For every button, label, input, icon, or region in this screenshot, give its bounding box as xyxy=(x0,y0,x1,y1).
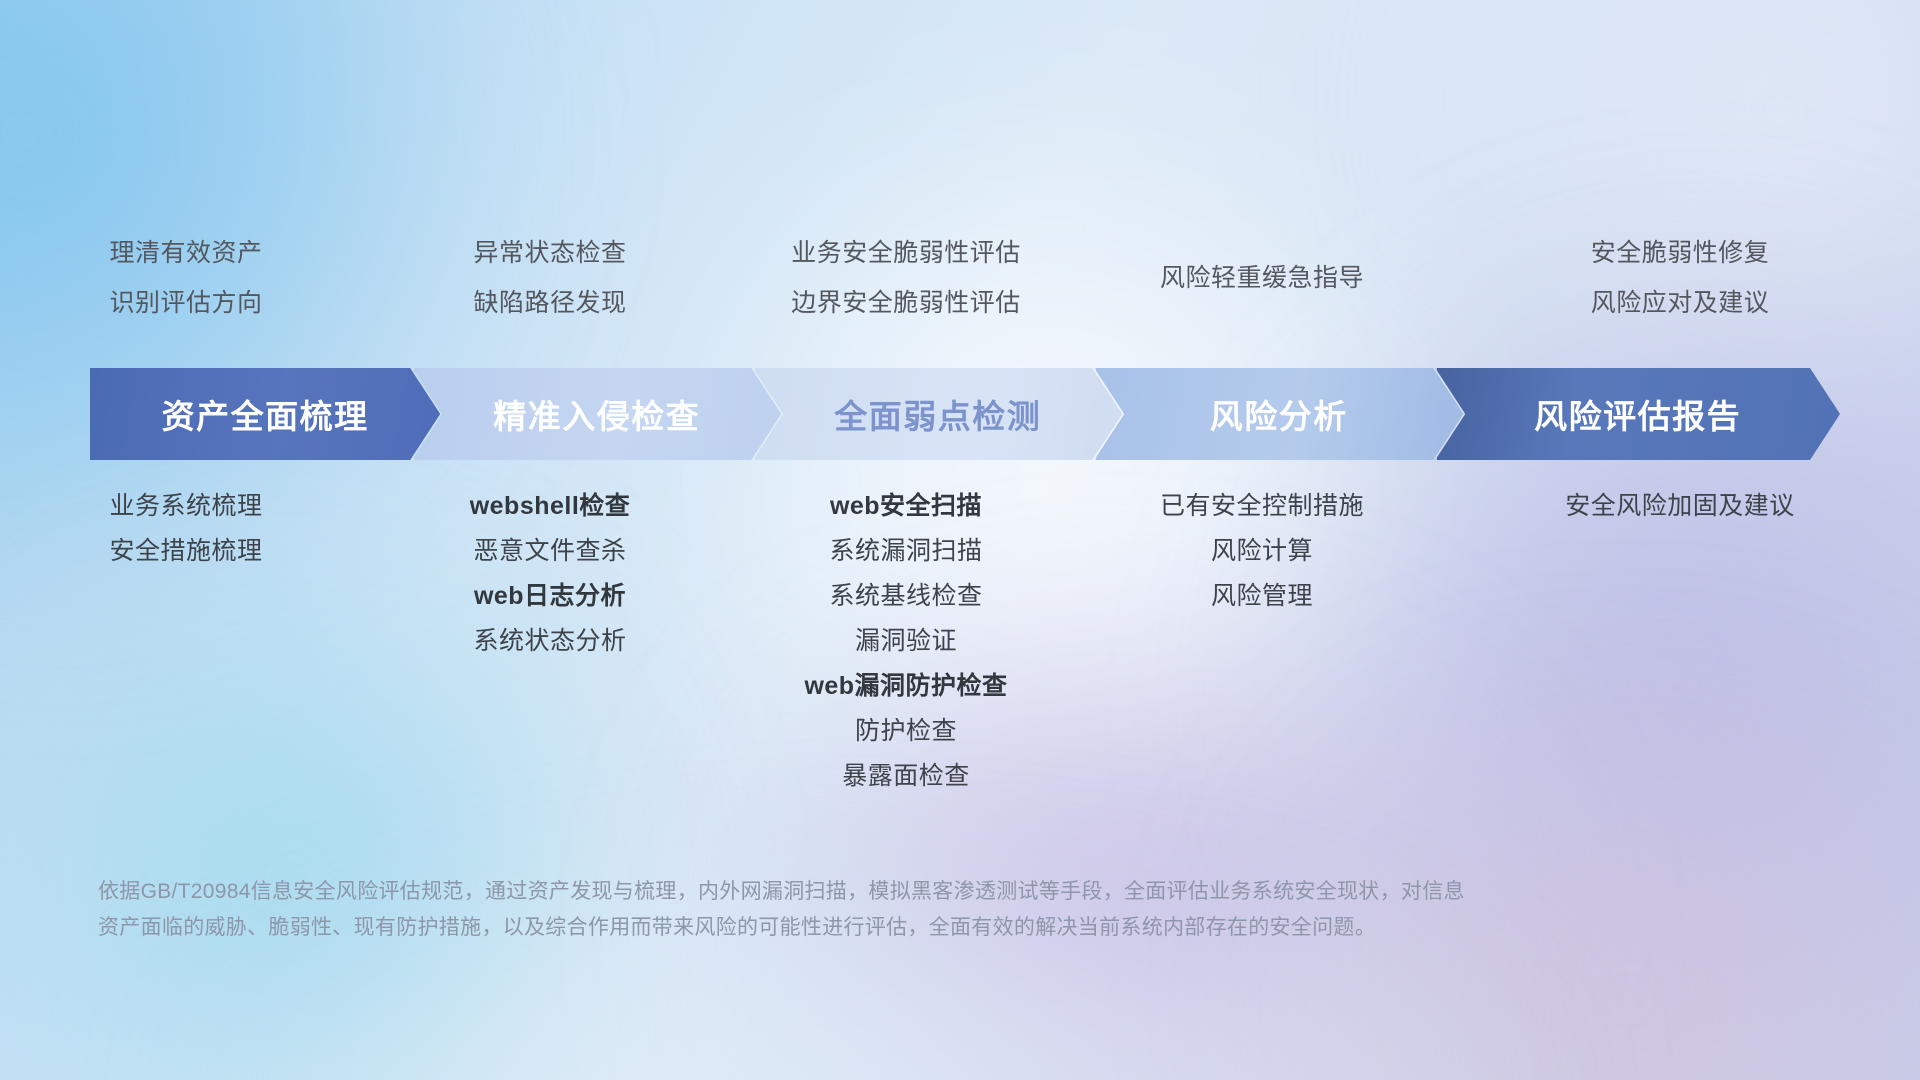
top-labels-intrusion-check: 异常状态检查 缺陷路径发现 xyxy=(372,228,728,328)
stage-arrow-label: 全面弱点检测 xyxy=(834,390,1041,438)
stage-arrow-weakness-detection[interactable]: 全面弱点检测 xyxy=(753,368,1122,460)
footer-line: 资产面临的威胁、脆弱性、现有防护措施，以及综合作用而带来风险的可能性进行评估，全… xyxy=(98,910,1658,946)
list-item: 系统基线检查 xyxy=(728,574,1084,619)
top-label: 异常状态检查 xyxy=(372,228,728,278)
top-label: 缺陷路径发现 xyxy=(372,278,728,328)
list-item: 业务系统梳理 xyxy=(0,484,372,529)
items-asset-inventory: 业务系统梳理 安全措施梳理 xyxy=(0,484,372,574)
bottom-item-row: 业务系统梳理 安全措施梳理 webshell检查 恶意文件查杀 web日志分析 … xyxy=(0,484,1920,799)
items-risk-analysis: 已有安全控制措施 风险计算 风险管理 xyxy=(1084,484,1440,619)
stage-arrow-intrusion-check[interactable]: 精准入侵检查 xyxy=(412,368,781,460)
stage-arrow-label: 风险分析 xyxy=(1210,390,1348,438)
stage-arrow-assessment-report[interactable]: 风险评估报告 xyxy=(1435,368,1840,460)
list-item: web安全扫描 xyxy=(728,484,1084,529)
stage-arrow-asset-inventory[interactable]: 资产全面梳理 xyxy=(90,368,440,460)
list-item: webshell检查 xyxy=(372,484,728,529)
items-intrusion-check: webshell检查 恶意文件查杀 web日志分析 系统状态分析 xyxy=(372,484,728,664)
top-labels-weakness-detection: 业务安全脆弱性评估 边界安全脆弱性评估 xyxy=(728,228,1084,328)
stage-arrow-label: 精准入侵检查 xyxy=(493,390,700,438)
footer-description: 依据GB/T20984信息安全风险评估规范，通过资产发现与梳理，内外网漏洞扫描，… xyxy=(98,874,1658,946)
list-item: 暴露面检查 xyxy=(728,754,1084,799)
list-item: 恶意文件查杀 xyxy=(372,529,728,574)
list-item: 漏洞验证 xyxy=(728,619,1084,664)
top-label: 理清有效资产 xyxy=(0,228,372,278)
top-label-row: 理清有效资产 识别评估方向 异常状态检查 缺陷路径发现 业务安全脆弱性评估 边界… xyxy=(0,228,1920,328)
list-item: web漏洞防护检查 xyxy=(728,664,1084,709)
top-labels-assessment-report: 安全脆弱性修复 风险应对及建议 xyxy=(1440,228,1920,328)
top-label: 风险轻重缓急指导 xyxy=(1084,228,1440,328)
process-diagram: 理清有效资产 识别评估方向 异常状态检查 缺陷路径发现 业务安全脆弱性评估 边界… xyxy=(0,0,1920,1080)
top-labels-asset-inventory: 理清有效资产 识别评估方向 xyxy=(0,228,372,328)
stage-arrow-banner: 资产全面梳理 精准入侵检查 全面弱点检测 风险分析 风险评估报告 xyxy=(90,368,1840,460)
items-weakness-detection: web安全扫描 系统漏洞扫描 系统基线检查 漏洞验证 web漏洞防护检查 防护检… xyxy=(728,484,1084,799)
list-item: 已有安全控制措施 xyxy=(1084,484,1440,529)
list-item: web日志分析 xyxy=(372,574,728,619)
list-item: 风险管理 xyxy=(1084,574,1440,619)
list-item: 风险计算 xyxy=(1084,529,1440,574)
top-label: 业务安全脆弱性评估 xyxy=(728,228,1084,278)
stage-arrow-risk-analysis[interactable]: 风险分析 xyxy=(1094,368,1463,460)
list-item: 安全风险加固及建议 xyxy=(1440,484,1920,529)
list-item: 安全措施梳理 xyxy=(0,529,372,574)
items-assessment-report: 安全风险加固及建议 xyxy=(1440,484,1920,529)
list-item: 防护检查 xyxy=(728,709,1084,754)
stage-arrow-label: 风险评估报告 xyxy=(1534,390,1741,438)
list-item: 系统状态分析 xyxy=(372,619,728,664)
list-item: 系统漏洞扫描 xyxy=(728,529,1084,574)
top-label: 识别评估方向 xyxy=(0,278,372,328)
top-labels-risk-analysis: 风险轻重缓急指导 xyxy=(1084,228,1440,328)
top-label: 边界安全脆弱性评估 xyxy=(728,278,1084,328)
top-label: 风险应对及建议 xyxy=(1440,278,1920,328)
footer-line: 依据GB/T20984信息安全风险评估规范，通过资产发现与梳理，内外网漏洞扫描，… xyxy=(98,874,1658,910)
top-label: 安全脆弱性修复 xyxy=(1440,228,1920,278)
stage-arrow-label: 资产全面梳理 xyxy=(162,390,369,438)
